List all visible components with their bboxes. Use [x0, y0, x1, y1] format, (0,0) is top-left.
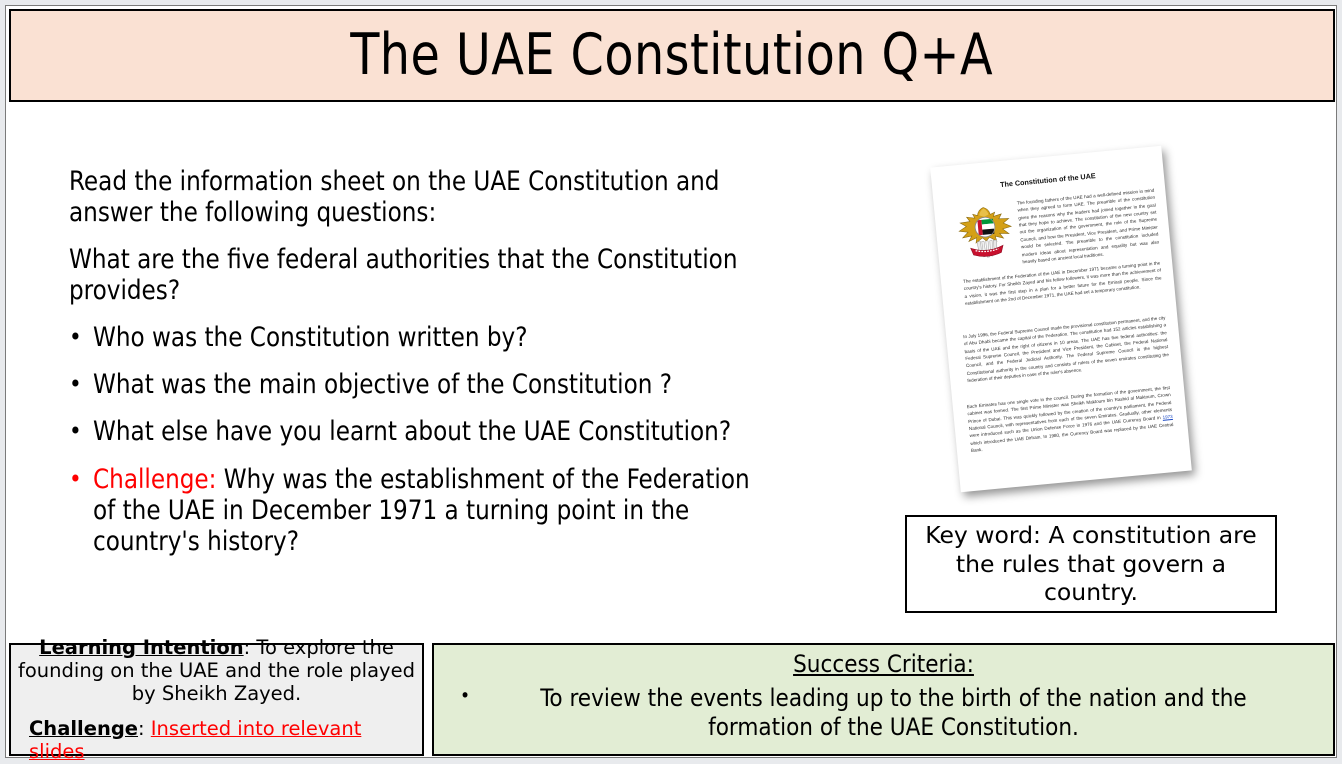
document-paragraph: In July 1996, the Federal Supreme Counci…	[963, 314, 1170, 384]
challenge-list-item: • Challenge: Why was the establishment o…	[69, 464, 779, 557]
uae-emblem-falcon-icon	[954, 200, 1017, 263]
list-item-label: Who was the Constitution written by?	[93, 322, 758, 353]
success-criteria-panel: Success Criteria: • To review the events…	[432, 643, 1335, 756]
learning-intention-label: Learning Intention	[39, 636, 243, 659]
list-item: • What else have you learnt about the UA…	[69, 416, 779, 447]
list-item: • Who was the Constitution written by?	[69, 322, 779, 353]
bullet-dot-icon: •	[69, 464, 93, 495]
success-criteria-heading: Success Criteria:	[444, 651, 1323, 677]
document-paragraph: The founding fathers of the UAE had a we…	[1017, 187, 1161, 266]
document-inline-link[interactable]: 1973	[1162, 414, 1173, 420]
success-criteria-item: • To review the events leading up to the…	[444, 684, 1323, 741]
bullet-dot-icon: •	[444, 684, 486, 710]
page-title: The UAE Constitution Q+A	[351, 27, 994, 84]
document-page: The Constitution of the UAE	[930, 146, 1192, 492]
key-word-box: Key word: A constitution are the rules t…	[905, 515, 1277, 613]
key-word-text: Key word: A constitution are the rules t…	[919, 521, 1263, 607]
challenge-label: Challenge:	[93, 464, 216, 495]
bullet-dot-icon: •	[69, 369, 93, 400]
main-content-text: Read the information sheet on the UAE Co…	[69, 166, 779, 573]
list-item: • What was the main objective of the Con…	[69, 369, 779, 400]
list-item-label: What else have you learnt about the UAE …	[93, 416, 758, 447]
information-sheet-thumbnail[interactable]: The Constitution of the UAE	[941, 148, 1191, 498]
document-paragraph: The establishment of the Federation of t…	[963, 259, 1163, 307]
bullet-dot-icon: •	[69, 416, 93, 447]
document-paragraph: Each Emirates has one single vote in the…	[967, 384, 1175, 454]
learning-intention-line: Learning Intention: To explore the found…	[15, 637, 418, 705]
challenge-footer-label: Challenge	[29, 717, 138, 740]
challenge-footer-separator: :	[138, 717, 151, 740]
bullet-dot-icon: •	[69, 322, 93, 353]
slide-canvas: The UAE Constitution Q+A Read the inform…	[5, 5, 1337, 758]
list-item-label: What was the main objective of the Const…	[93, 369, 758, 400]
learning-intention-panel: Learning Intention: To explore the found…	[9, 643, 424, 756]
challenge-item-body: Challenge: Why was the establishment of …	[93, 464, 758, 557]
challenge-line: Challenge: Inserted into relevant slides	[15, 718, 418, 764]
lead-question: What are the five federal authorities th…	[69, 244, 758, 306]
success-criteria-text: To review the events leading up to the b…	[486, 684, 1323, 741]
intro-paragraph: Read the information sheet on the UAE Co…	[69, 166, 758, 228]
slide-title-bar: The UAE Constitution Q+A	[9, 9, 1335, 102]
